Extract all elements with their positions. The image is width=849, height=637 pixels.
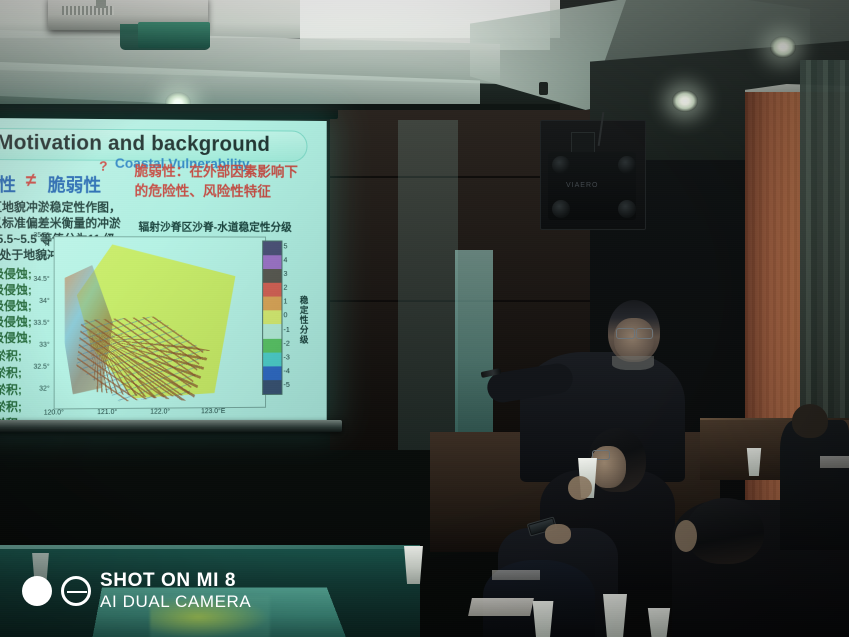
colorbar-tick-label: 4 xyxy=(283,255,287,264)
colorbar-segment xyxy=(263,325,281,339)
speaker-tweeter-icon xyxy=(571,132,595,154)
audience-member-far-right xyxy=(780,420,849,550)
slide-red-note-line2: 的危险性、风险性特征 xyxy=(135,181,271,201)
colorbar-tick-label: -3 xyxy=(283,352,289,361)
audience-hand xyxy=(568,476,592,500)
colorbar-segment xyxy=(263,311,281,325)
colorbar-tick-label: 3 xyxy=(283,269,287,278)
colorbar-axis-title: 稳定性分级 xyxy=(298,296,311,345)
colorbar-segment xyxy=(263,255,281,269)
projector-body xyxy=(138,22,210,48)
colorbar-tick-label: 5 xyxy=(283,242,287,251)
colorbar-segment xyxy=(263,283,281,297)
watermark-dot-icon xyxy=(22,576,52,606)
presenter-collar xyxy=(612,356,654,370)
x-axis-tick: 122.0° xyxy=(150,409,170,416)
projector-vent xyxy=(62,6,114,15)
y-axis-tick: 32° xyxy=(18,386,50,393)
x-axis-tick: 120.0° xyxy=(44,409,64,416)
projector-mount xyxy=(96,0,106,8)
colorbar-segment xyxy=(263,366,281,380)
slide-title: Motivation and background xyxy=(0,131,270,157)
audience-hand xyxy=(545,524,571,544)
speaker-driver-icon xyxy=(552,156,570,174)
slide-surface: Motivation and background ? Coastal Vuln… xyxy=(0,118,327,423)
downlight-icon xyxy=(672,90,698,112)
colorbar-segment xyxy=(263,241,281,255)
colorbar-tick-label: -1 xyxy=(283,325,289,334)
paper-document xyxy=(468,598,534,616)
speaker-driver-icon xyxy=(618,156,636,174)
map-plot-area xyxy=(54,236,266,409)
colorbar-tick-label: 1 xyxy=(283,297,287,306)
colorbar-segment xyxy=(263,352,281,366)
colorbar-tick-label: -4 xyxy=(283,366,289,375)
colorbar-segment xyxy=(263,297,281,311)
colorbar-segment xyxy=(263,380,281,394)
slide-term-left: 定性 xyxy=(0,171,16,197)
slide-body-line: 的以标准偏差米衡量的冲淤 xyxy=(0,216,121,231)
slide-list-item: 2 级侵蚀; xyxy=(0,282,32,299)
speaker-driver-icon xyxy=(618,200,636,218)
ceiling-sensor-icon xyxy=(539,82,548,95)
projection-screen-roller xyxy=(0,108,338,119)
paper-document xyxy=(820,456,849,468)
presenter-glasses-icon xyxy=(616,328,635,339)
y-axis-tick: 35° xyxy=(18,254,50,261)
presenter-face xyxy=(614,318,654,360)
watermark-line-2: AI DUAL CAMERA xyxy=(100,591,251,612)
wall-teal-panel xyxy=(455,250,493,450)
slide-list-item: 级淤积; xyxy=(0,348,22,365)
map-colorbar xyxy=(262,240,282,394)
map-title: 辐射沙脊区沙脊-水道稳定性分级 xyxy=(138,218,291,234)
y-axis-tick-unit: N xyxy=(18,241,50,248)
projection-screen-bottom-bar xyxy=(0,420,342,432)
slide-list-item: 级淤积; xyxy=(0,399,22,416)
audience-ear xyxy=(675,520,697,552)
colorbar-tick-label: 0 xyxy=(283,311,287,320)
wall-teal-glow xyxy=(398,120,458,450)
watermark-line-1: SHOT ON MI 8 xyxy=(100,570,251,591)
x-axis-tick: 121.0° xyxy=(97,409,117,416)
photo-scene: VIAERO Motivation and background ? Coast… xyxy=(0,0,849,637)
y-axis-tick: 34° xyxy=(18,298,50,305)
y-axis-tick: 33° xyxy=(18,342,50,349)
presenter-glasses-icon xyxy=(636,328,653,339)
slide-body-line: 地区地貌冲淤稳定性作图， xyxy=(0,200,121,215)
colorbar-tick-label: -5 xyxy=(283,380,289,389)
glass-table-edge xyxy=(0,545,420,549)
y-axis-tick: 33.5° xyxy=(18,320,50,327)
downlight-icon xyxy=(770,36,796,58)
projection-screen: Motivation and background ? Coastal Vuln… xyxy=(0,118,327,423)
colorbar-tick-label: 2 xyxy=(283,283,287,292)
not-equal-icon: ≠ xyxy=(26,170,36,192)
camera-watermark: SHOT ON MI 8 AI DUAL CAMERA xyxy=(22,570,251,612)
colorbar-segment xyxy=(263,269,281,283)
audience-head xyxy=(792,404,828,438)
watermark-text: SHOT ON MI 8 AI DUAL CAMERA xyxy=(100,570,251,612)
slide-red-note-line1: 脆弱性：在外部因素影响下 xyxy=(135,161,298,182)
watermark-lens-icon xyxy=(61,576,91,606)
slide-term-right: 脆弱性 xyxy=(48,171,101,197)
y-axis-tick: 32.5° xyxy=(18,364,50,371)
colorbar-tick-label: -2 xyxy=(283,338,289,347)
y-axis-tick: 35.5° xyxy=(18,232,50,239)
paper-document xyxy=(492,570,540,580)
speaker-driver-icon xyxy=(552,200,570,218)
colorbar-segment xyxy=(263,338,281,352)
x-axis-tick: 123.0°E xyxy=(201,408,225,415)
y-axis-tick: 34.5° xyxy=(18,276,50,283)
audience-head xyxy=(686,498,764,564)
speaker-brand-label: VIAERO xyxy=(566,182,598,189)
